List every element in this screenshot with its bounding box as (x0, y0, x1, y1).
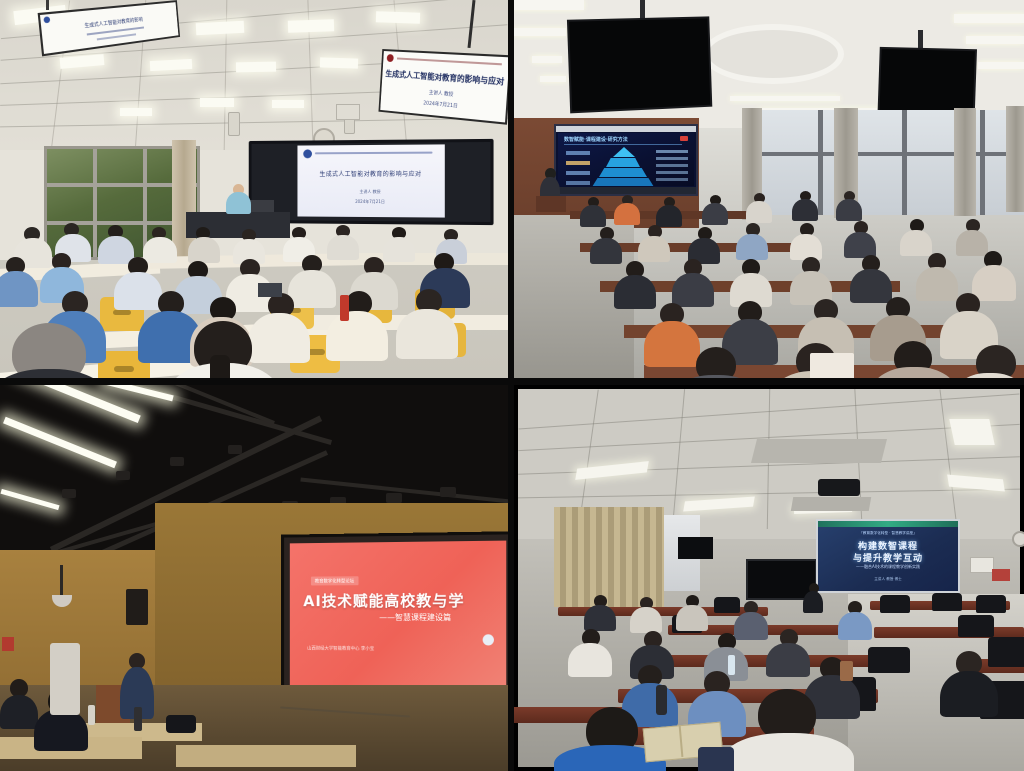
slide-footer: 主讲人 教授 博士 (822, 577, 954, 582)
thermos (134, 707, 142, 731)
cove-light (978, 62, 1024, 69)
cove-light (966, 36, 1024, 44)
attendee-body (900, 230, 932, 256)
pyramid-label-left (566, 151, 590, 155)
conference-chair (988, 637, 1024, 667)
thermos (656, 685, 667, 715)
attendee-body (614, 203, 640, 225)
ponytail (210, 355, 230, 378)
attendee-body (940, 671, 998, 717)
attendee-body (644, 321, 700, 367)
slide-header: 「教育数字化转型 · 智慧教学讲座」 (822, 531, 954, 536)
slide-top-accent (818, 521, 958, 527)
water-bottle (88, 705, 95, 725)
attendee-body (702, 203, 728, 225)
front-slide-title: 生成式人工智能对教育的影响与应对 (305, 169, 436, 178)
photo-panel-top-right: 数智赋能·课程建设·研究方法 (514, 0, 1024, 378)
attendee-body (638, 236, 670, 262)
pyramid-tier-2 (606, 158, 640, 167)
slide-logo-icon (483, 634, 494, 645)
university-logo-icon (303, 149, 312, 158)
ceiling-light (288, 19, 334, 33)
slide-subtitle: ——智慧课程建设篇 (379, 612, 451, 623)
wall-clock (1012, 531, 1024, 547)
pyramid-label-right (656, 157, 688, 160)
attendee-body (792, 199, 818, 221)
wall-speaker (126, 589, 148, 625)
ceiling-light (120, 108, 152, 116)
slide-badge (680, 136, 688, 141)
shopping-bag (810, 353, 854, 378)
pyramid-label-left (566, 161, 590, 165)
cove-light (954, 14, 1024, 23)
attendee-body (838, 612, 872, 640)
front-desk (176, 745, 356, 767)
pyramid-label-right (656, 178, 688, 181)
attendee-body (676, 605, 708, 631)
attendee-head-foreground (696, 347, 736, 378)
attendee-body (248, 313, 310, 363)
attendee-body (0, 695, 38, 729)
presenter-body (803, 591, 823, 613)
conference-chair (714, 597, 740, 613)
cove-light (540, 76, 566, 82)
attendee-body (396, 309, 458, 359)
ceiling-light (949, 419, 995, 445)
attendee-body (34, 709, 88, 751)
conference-chair (976, 595, 1006, 613)
monitor-logo-icon (43, 16, 50, 23)
monitor-logo-icon (387, 54, 394, 62)
classroom-scene: 生成式人工智能对教育的影响与应对 主讲人 教授 2024年7月21日 生成式人工… (0, 0, 508, 378)
air-conditioner (50, 643, 80, 715)
attendee-body (188, 237, 220, 263)
attendee-body (672, 273, 714, 307)
pyramid-label-right (656, 164, 688, 167)
cove-light (730, 96, 840, 101)
curtain (554, 507, 664, 607)
photo-collage: 生成式人工智能对教育的影响与应对 主讲人 教授 2024年7月21日 生成式人工… (0, 0, 1024, 771)
fire-extinguisher-sign (2, 637, 14, 651)
exit-sign (970, 557, 994, 573)
hanging-monitor-right: 生成式人工智能对教育的影响与应对 主讲人 教授 2024年7月21日 (378, 49, 508, 125)
front-slide-subtitle-1: 主讲人 教授 (305, 189, 436, 195)
attendee-body (288, 270, 336, 308)
attendee-body (327, 235, 359, 260)
attendee-body (630, 607, 662, 633)
wall-monitor-small (678, 537, 713, 559)
monitor-header-line (397, 57, 502, 65)
attendee-body (114, 272, 162, 310)
pendant-mount (60, 565, 63, 597)
pyramid-label-right (656, 150, 688, 153)
ceiling-projector (818, 479, 860, 496)
attendee-body-foreground (724, 733, 854, 771)
hanging-monitor-right-title: 生成式人工智能对教育的影响与应对 (384, 68, 506, 87)
slide-subtitle: ——融合AI技术的课程教学创新实践 (822, 564, 954, 570)
attendee-body (916, 267, 958, 301)
photo-panel-top-left: 生成式人工智能对教育的影响与应对 主讲人 教授 2024年7月21日 生成式人工… (0, 0, 508, 378)
audience (0, 205, 508, 378)
conference-chair (958, 615, 994, 637)
slide-badge: 教育数字化转型论坛 (311, 576, 358, 585)
slide-title: AI技术赋能高校教与学 (303, 590, 464, 611)
attendee-body (790, 234, 822, 260)
stage-spotlight (62, 489, 76, 498)
pyramid-slide-title: 数智赋能·课程建设·研究方法 (564, 136, 628, 143)
attendee-body (326, 311, 388, 361)
ac-vent (751, 439, 887, 463)
attendee-body (580, 205, 606, 227)
ceiling-light (200, 98, 234, 107)
auditorium-scene: 教育数字化转型论坛 AI技术赋能高校教与学 ——智慧课程建设篇 山西财经大学智能… (0, 385, 508, 771)
laptop (258, 283, 282, 297)
presentation-slide: 教育数字化转型论坛 AI技术赋能高校教与学 ——智慧课程建设篇 山西财经大学智能… (290, 541, 506, 692)
attendee-body (972, 265, 1016, 301)
ac-vent (336, 104, 360, 120)
pyramid-slide: 数智赋能·课程建设·研究方法 (558, 133, 694, 186)
photo-panel-bottom-right: 「教育数字化转型 · 智慧教学讲座」 构建数智课程 与提升教学互动 ——融合AI… (514, 385, 1024, 771)
ac-vent (791, 497, 871, 511)
attendee-body (836, 199, 862, 221)
projection-screen: 「教育数字化转型 · 智慧教学讲座」 构建数智课程 与提升教学互动 ——融合AI… (816, 519, 960, 593)
attendee-body (746, 201, 772, 223)
attendee-body (98, 236, 134, 264)
water-bottle (728, 655, 735, 675)
cove-light (532, 56, 562, 63)
conference-chair (932, 593, 962, 611)
ceiling-light (236, 62, 276, 73)
attendee-body (614, 275, 656, 309)
lecture-hall-scene: 数智赋能·课程建设·研究方法 (514, 0, 1024, 378)
conference-room-scene: 「教育数字化转型 · 智慧教学讲座」 构建数智课程 与提升教学互动 ——融合AI… (514, 385, 1024, 771)
ceiling-recess (702, 24, 844, 84)
attendee-body (734, 612, 768, 640)
projection-screen: 教育数字化转型论坛 AI技术赋能高校教与学 ——智慧课程建设篇 山西财经大学智能… (281, 531, 508, 700)
conference-chair (880, 595, 910, 613)
attendee-body (656, 205, 682, 227)
hanging-tv-right (878, 47, 977, 116)
attendee-body (383, 237, 415, 262)
conference-chair (868, 647, 910, 673)
stage-spotlight (170, 457, 184, 466)
cove-light (514, 28, 566, 36)
attendee-body (0, 271, 38, 307)
stage-spotlight (386, 493, 402, 503)
stage-spotlight (116, 471, 130, 480)
ceiling-light (376, 11, 420, 24)
wall-poster (992, 569, 1010, 581)
attendee-body (736, 234, 768, 260)
attendee-body (568, 643, 612, 677)
attendee-body (143, 237, 177, 263)
attendee-body (850, 269, 892, 303)
slide-footer: 山西财经大学智能教育中心 李小宝 (307, 646, 374, 652)
speaker-cone (228, 112, 240, 136)
hanging-tv-left (567, 16, 712, 113)
pyramid-tier-3 (599, 168, 647, 177)
cove-light (514, 0, 584, 10)
bag (166, 715, 196, 733)
water-bottle (340, 295, 349, 321)
browser-bar (556, 126, 696, 132)
monitor-mount (46, 0, 49, 10)
slide-accent-bar (564, 144, 682, 145)
attendee-body (956, 230, 988, 256)
backpack (698, 747, 734, 771)
photo-panel-bottom-left: 教育数字化转型论坛 AI技术赋能高校教与学 ——智慧课程建设篇 山西财经大学智能… (0, 385, 508, 771)
pyramid-label-right (656, 171, 688, 174)
monitor-text-line (97, 33, 136, 40)
attendee-body (584, 605, 616, 631)
stage-spotlight (228, 445, 242, 454)
pyramid-label-left (566, 171, 590, 175)
pyramid-tier-1 (613, 147, 635, 157)
iced-coffee-cup (840, 661, 853, 681)
slide-title-line-2: 与提升教学互动 (822, 551, 954, 564)
attendee-body (590, 238, 622, 264)
stage-spotlight (440, 487, 456, 497)
ceiling-light (272, 100, 304, 108)
audience (514, 185, 1024, 378)
ceiling-light (320, 57, 358, 68)
attendee-body (766, 643, 810, 677)
ceiling-light (196, 21, 245, 35)
